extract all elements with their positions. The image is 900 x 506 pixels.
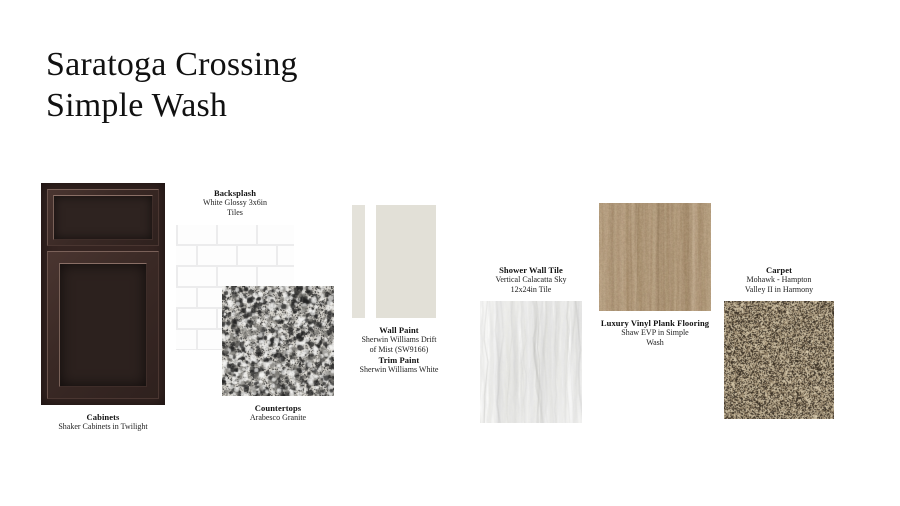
tile-grout-line [236,246,238,265]
caption-countertops: Countertops Arabesco Granite [222,403,334,423]
tile-grout-line [216,225,218,244]
caption-title: Luxury Vinyl Plank Flooring [599,318,711,328]
caption-subtitle: White Glossy 3x6in Tiles [176,198,294,218]
swatch-item-shower-wall-tile[interactable]: Shower Wall Tile Vertical Calacatta Sky … [478,265,584,423]
wall-paint-swatch[interactable] [376,205,436,318]
swatch-item-luxury-vinyl-plank[interactable]: Luxury Vinyl Plank Flooring Shaw EVP in … [599,203,711,348]
caption-title: Countertops [222,403,334,413]
tile-grout-line [196,330,198,349]
caption-subtitle: Arabesco Granite [222,413,334,423]
carpet-swatch[interactable] [724,301,834,419]
board-title: Saratoga Crossing Simple Wash [46,44,298,127]
cabinet-drawer-panel [47,189,159,246]
caption-subtitle: Shaker Cabinets in Twilight [41,422,165,432]
granite-texture [222,286,334,396]
swatch-item-carpet[interactable]: Carpet Mohawk - Hampton Valley II in Har… [722,265,836,419]
caption-paint: Wall Paint Sherwin Williams Drift of Mis… [347,325,451,375]
cabinet-door-panel [47,251,159,399]
tile-grout-line [196,288,198,307]
caption-cabinets: Cabinets Shaker Cabinets in Twilight [41,412,165,432]
swatch-item-cabinets[interactable]: Cabinets Shaker Cabinets in Twilight [41,183,165,432]
caption-title: Cabinets [41,412,165,422]
caption-subtitle-trim-paint: Sherwin Williams White [347,365,451,375]
cabinet-door-swatch[interactable] [41,183,165,405]
caption-title: Shower Wall Tile [478,265,584,275]
cabinet-door-inset [59,263,147,387]
cabinet-drawer-inset [53,195,153,240]
tile-grout-line [276,246,278,265]
carpet-texture [724,301,834,419]
caption-title-wall-paint: Wall Paint [347,325,451,335]
caption-title-trim-paint: Trim Paint [347,355,451,365]
tile-grout-line [256,225,258,244]
vinyl-plank-swatch[interactable] [599,203,711,311]
caption-carpet: Carpet Mohawk - Hampton Valley II in Har… [722,265,836,295]
tile-grout-line [216,267,218,286]
tile-grout-line [176,309,178,328]
caption-subtitle: Shaw EVP in Simple Wash [599,328,711,348]
granite-swatch[interactable] [222,286,334,396]
tile-grout-line [176,225,178,244]
tile-grout-line [196,246,198,265]
marble-texture [480,301,582,423]
trim-paint-swatch[interactable] [352,205,365,318]
caption-subtitle-wall-paint: Sherwin Williams Drift of Mist (SW9166) [347,335,451,355]
swatch-item-paint[interactable]: Wall Paint Sherwin Williams Drift of Mis… [347,205,451,375]
caption-subtitle: Mohawk - Hampton Valley II in Harmony [722,275,836,295]
caption-title: Carpet [722,265,836,275]
caption-subtitle: Vertical Calacatta Sky 12x24in Tile [478,275,584,295]
caption-luxury-vinyl-plank: Luxury Vinyl Plank Flooring Shaw EVP in … [599,318,711,348]
tile-grout-line [176,267,178,286]
marble-tile-swatch[interactable] [480,301,582,423]
wood-grain-texture [599,203,711,311]
caption-shower-wall-tile: Shower Wall Tile Vertical Calacatta Sky … [478,265,584,295]
caption-title: Backsplash [176,188,294,198]
tile-grout-line [216,309,218,328]
tile-grout-line [256,267,258,286]
paint-swatch-group [347,205,451,318]
swatch-item-countertops[interactable]: Countertops Arabesco Granite [222,286,334,423]
caption-backsplash: Backsplash White Glossy 3x6in Tiles [176,188,294,218]
